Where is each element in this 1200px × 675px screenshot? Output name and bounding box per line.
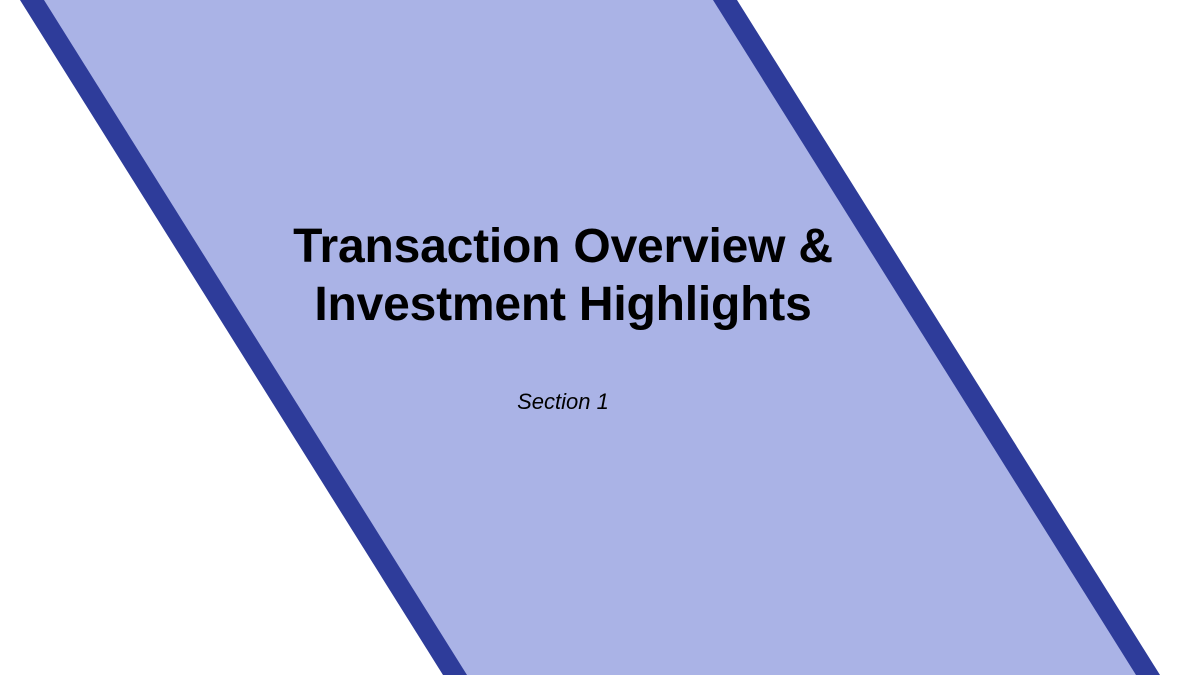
slide-canvas: Transaction Overview & Investment Highli… [0,0,1200,675]
slanted-band-graphic [0,0,1200,675]
band-inner-parallelogram [44,0,1136,675]
